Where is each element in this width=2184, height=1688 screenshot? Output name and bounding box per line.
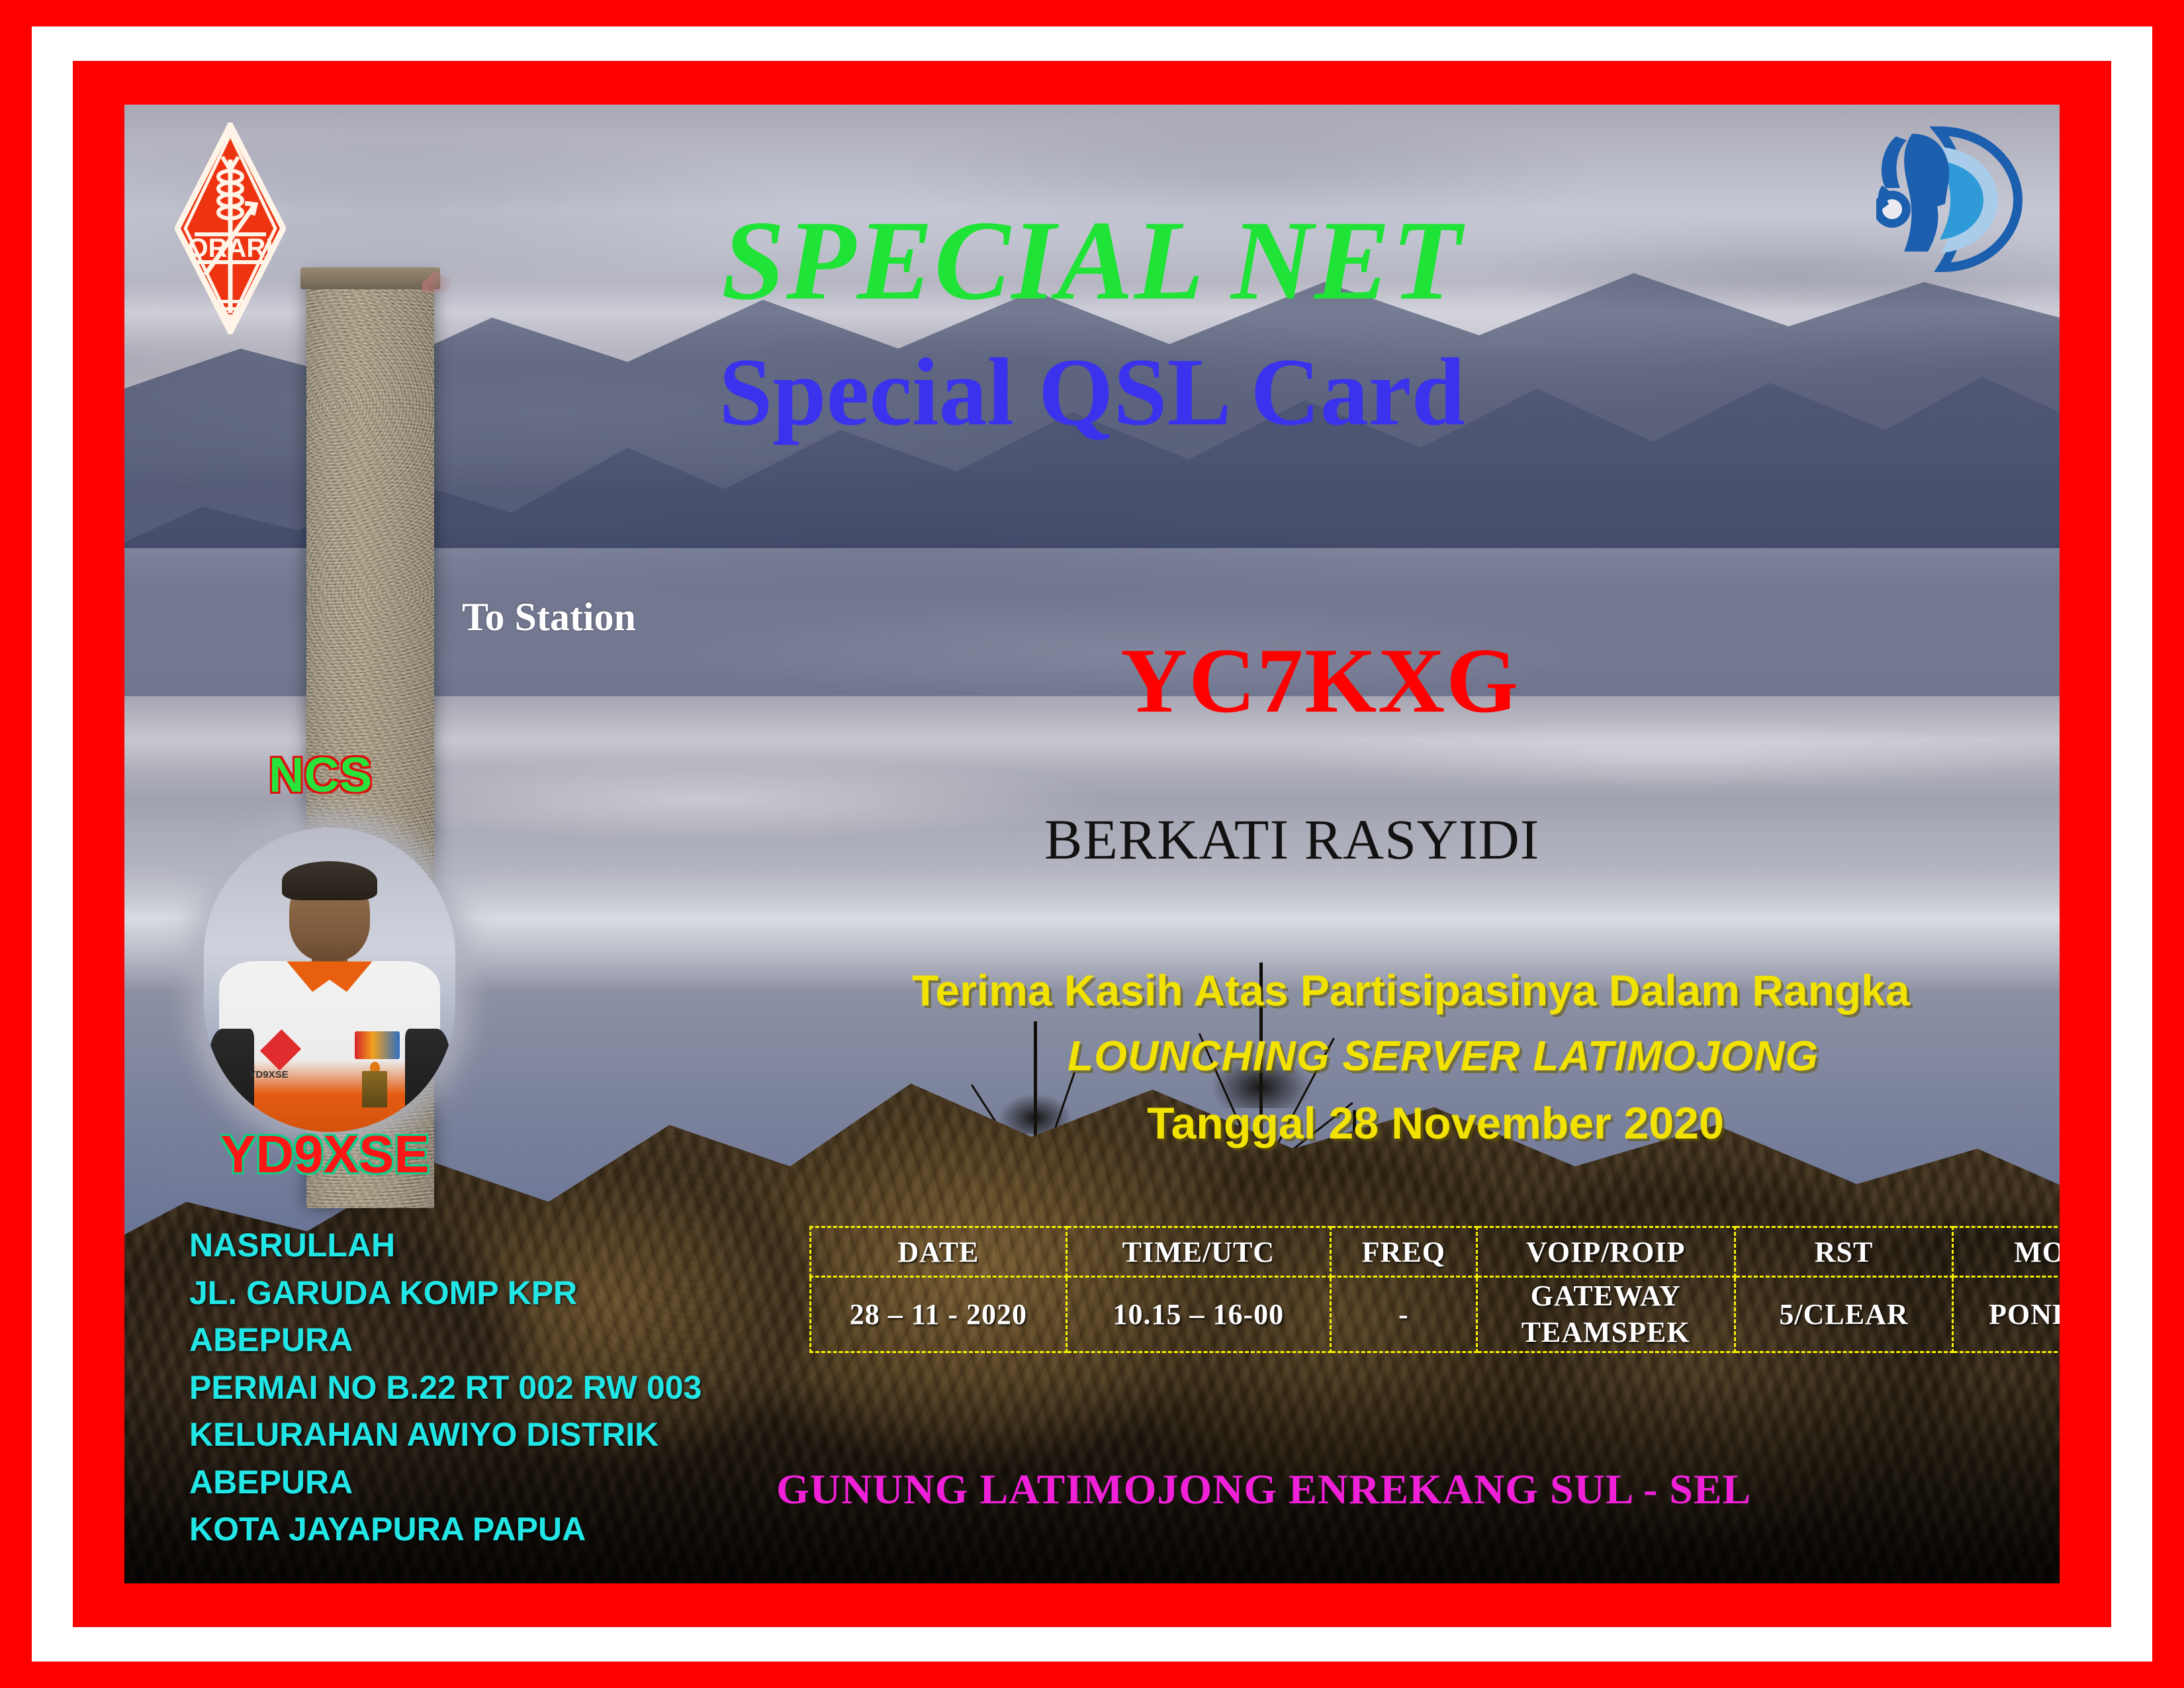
- column-header-mode: MODE: [1953, 1227, 2060, 1277]
- event-name: LOUNCHING SERVER LATIMOJONG: [1068, 1031, 1819, 1080]
- column-header-time: TIME/UTC: [1066, 1227, 1330, 1277]
- address-line: JL. GARUDA KOMP KPR: [189, 1270, 702, 1317]
- ncs-label: NCS: [269, 747, 372, 803]
- cell-mode: PONE/CW: [1953, 1277, 2060, 1352]
- cell-time: 10.15 – 16-00: [1066, 1277, 1330, 1352]
- operator-name: BERKATI RASYIDI: [1044, 806, 1539, 872]
- cell-voip-roip: GATEWAY TEAMSPEK: [1477, 1277, 1735, 1352]
- cell-rst: 5/CLEAR: [1735, 1277, 1953, 1352]
- location-line: GUNUNG LATIMOJONG ENREKANG SUL - SEL: [776, 1465, 1751, 1514]
- address-line: ABEPURA: [189, 1459, 702, 1507]
- column-header-date: DATE: [811, 1227, 1067, 1277]
- event-date: Tanggal 28 November 2020: [1147, 1098, 1724, 1149]
- page-title-special-net: SPECIAL NET: [124, 196, 2060, 326]
- to-station-label: To Station: [462, 594, 636, 640]
- address-line: KOTA JAYAPURA PAPUA: [189, 1506, 702, 1554]
- table-header-row: DATE TIME/UTC FREQ VOIP/ROIP RST MODE: [811, 1227, 2060, 1277]
- table-row: 28 – 11 - 2020 10.15 – 16-00 - GATEWAY T…: [811, 1277, 2060, 1352]
- card-photo-area: ORARI SPECIAL NET Special QSL Card To St: [124, 105, 2060, 1583]
- cell-date: 28 – 11 - 2020: [811, 1277, 1067, 1352]
- thanks-line: Terima Kasih Atas Partisipasinya Dalam R…: [912, 965, 1910, 1015]
- page-subtitle-qsl-card: Special QSL Card: [124, 336, 2060, 447]
- ncs-callsign: YD9XSE: [220, 1124, 430, 1185]
- card-white-gap: ORARI SPECIAL NET Special QSL Card To St: [32, 26, 2152, 1662]
- column-header-voip-roip: VOIP/ROIP: [1477, 1227, 1735, 1277]
- cell-freq: -: [1330, 1277, 1477, 1352]
- mailing-address: NASRULLAH JL. GARUDA KOMP KPR ABEPURA PE…: [189, 1222, 702, 1554]
- card-inner-red-border: ORARI SPECIAL NET Special QSL Card To St: [73, 61, 2111, 1627]
- qso-table: DATE TIME/UTC FREQ VOIP/ROIP RST MODE 28…: [809, 1226, 2060, 1353]
- station-callsign: YC7KXG: [1120, 628, 1520, 734]
- address-line: NASRULLAH: [189, 1222, 702, 1270]
- qsl-card: ORARI SPECIAL NET Special QSL Card To St: [0, 0, 2184, 1688]
- address-line: ABEPURA: [189, 1317, 702, 1364]
- cell-voip-line2: TEAMSPEK: [1478, 1314, 1734, 1350]
- photo-shirt-callsign: YD9XSE: [249, 1069, 288, 1080]
- column-header-freq: FREQ: [1330, 1227, 1477, 1277]
- ncs-operator-photo: YD9XSE: [204, 827, 455, 1132]
- address-line: KELURAHAN AWIYO DISTRIK: [189, 1411, 702, 1459]
- address-line: PERMAI NO B.22 RT 002 RW 003: [189, 1364, 702, 1412]
- cell-voip-line1: GATEWAY: [1478, 1278, 1734, 1314]
- column-header-rst: RST: [1735, 1227, 1953, 1277]
